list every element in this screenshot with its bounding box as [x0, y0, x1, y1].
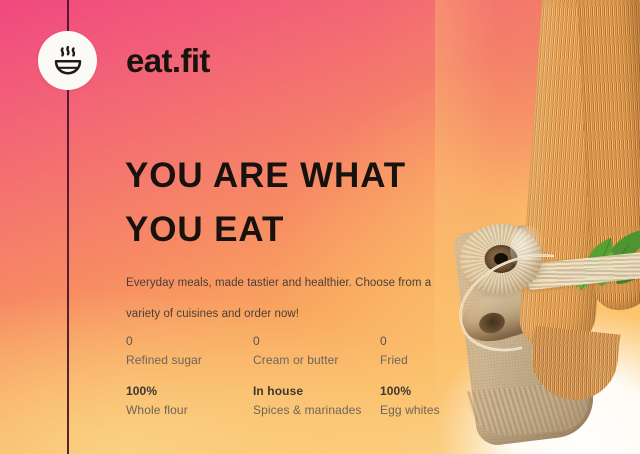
brand-name: eat.fit: [126, 44, 210, 77]
stat-spices-and-marinades: In house Spices & marinades: [253, 382, 380, 432]
stat-label: Egg whites: [380, 400, 466, 420]
stat-value: 100%: [380, 382, 466, 400]
page-title: YOU ARE WHAT YOU EAT: [125, 149, 455, 257]
stat-value: In house: [253, 382, 380, 400]
stat-fried: 0 Fried: [380, 332, 466, 382]
stat-value: 100%: [126, 382, 253, 400]
stat-value: 0: [126, 332, 253, 350]
brand-logo[interactable]: [38, 31, 97, 90]
hero-banner: eat.fit YOU ARE WHAT YOU EAT Everyday me…: [0, 0, 640, 454]
stats-row: 0 Refined sugar 0 Cream or butter 0 Frie…: [126, 332, 466, 382]
stat-value: 0: [380, 332, 466, 350]
stat-label: Refined sugar: [126, 350, 253, 370]
stat-label: Fried: [380, 350, 466, 370]
stat-label: Spices & marinades: [253, 400, 380, 420]
stat-label: Cream or butter: [253, 350, 380, 370]
stat-label: Whole flour: [126, 400, 253, 420]
stat-whole-flour: 100% Whole flour: [126, 382, 253, 432]
stat-cream-or-butter: 0 Cream or butter: [253, 332, 380, 382]
stat-value: 0: [253, 332, 380, 350]
stat-egg-whites: 100% Egg whites: [380, 382, 466, 432]
hero-subtitle: Everyday meals, made tastier and healthi…: [126, 268, 448, 330]
stats-grid: 0 Refined sugar 0 Cream or butter 0 Frie…: [126, 332, 466, 432]
stats-row: 100% Whole flour In house Spices & marin…: [126, 382, 466, 432]
steaming-bowl-icon: [50, 43, 86, 79]
stat-refined-sugar: 0 Refined sugar: [126, 332, 253, 382]
